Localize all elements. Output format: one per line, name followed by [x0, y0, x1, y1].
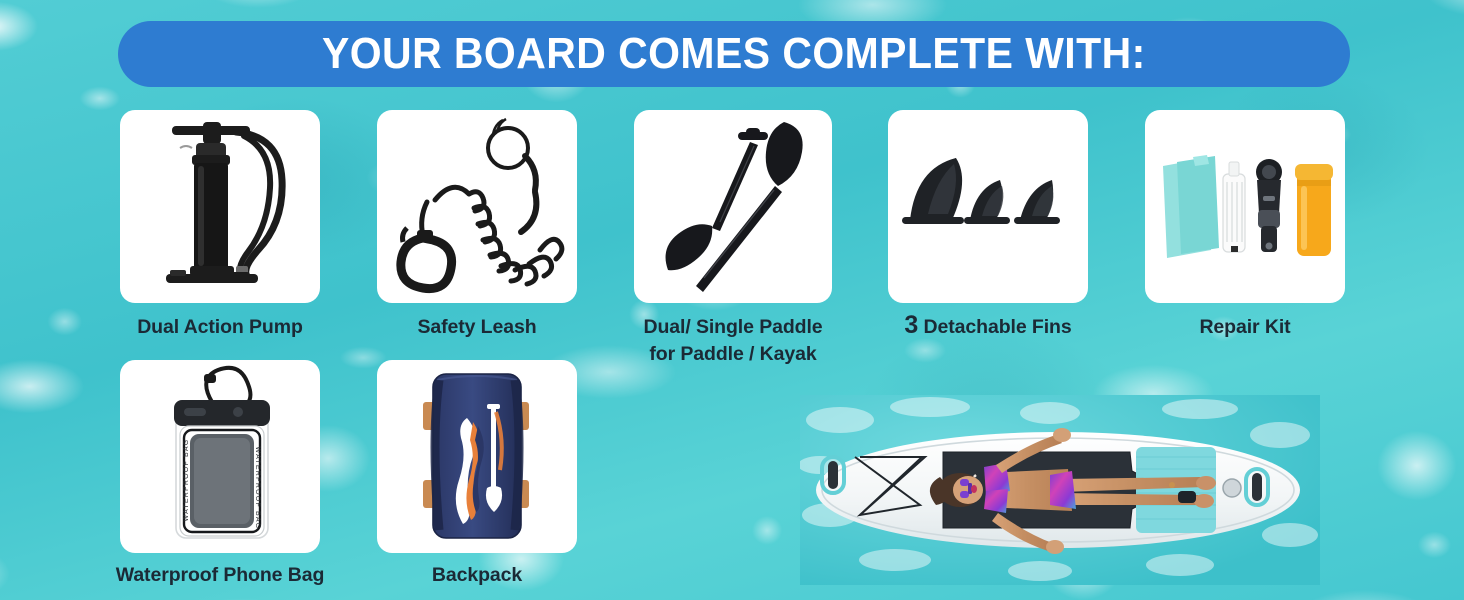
- backpack-icon: [377, 360, 577, 553]
- paddle-icon: [634, 110, 832, 303]
- card-label-dual-action-pump: Dual Action Pump: [120, 314, 320, 341]
- product-card-detachable-fins[interactable]: [888, 110, 1088, 303]
- phone-bag-icon: WATERPROOF BAG WATERPROOF BAG: [120, 360, 320, 553]
- card-label-waterproof-phone-bag: Waterproof Phone Bag: [110, 562, 330, 589]
- fins-count: 3: [904, 311, 918, 339]
- header-banner: YOUR BOARD COMES COMPLETE WITH:: [118, 21, 1350, 87]
- product-card-dual-action-pump[interactable]: [120, 110, 320, 303]
- hand-pump-icon: [120, 110, 320, 303]
- coiled-leash-icon: [377, 110, 577, 303]
- card-label-detachable-fins: 3 Detachable Fins: [888, 312, 1088, 341]
- card-label-paddle-line2: for Paddle / Kayak: [620, 341, 846, 368]
- page-title: YOUR BOARD COMES COMPLETE WITH:: [322, 32, 1146, 76]
- infographic-root: YOUR BOARD COMES COMPLETE WITH:: [0, 0, 1464, 600]
- product-card-dual-single-paddle[interactable]: [634, 110, 832, 303]
- card-label-safety-leash: Safety Leash: [377, 314, 577, 341]
- paddleboard-hero-photo: [800, 395, 1320, 585]
- svg-text:WATERPROOF BAG: WATERPROOF BAG: [254, 447, 261, 530]
- product-card-waterproof-phone-bag[interactable]: WATERPROOF BAG WATERPROOF BAG: [120, 360, 320, 553]
- fins-icon: [888, 110, 1088, 303]
- card-label-repair-kit: Repair Kit: [1145, 314, 1345, 341]
- product-card-backpack[interactable]: [377, 360, 577, 553]
- svg-text:WATERPROOF BAG: WATERPROOF BAG: [183, 439, 190, 522]
- fins-label-text: Detachable Fins: [924, 316, 1072, 338]
- product-card-repair-kit[interactable]: [1145, 110, 1345, 303]
- card-label-paddle-line1: Dual/ Single Paddle: [620, 314, 846, 341]
- repair-kit-icon: [1145, 110, 1345, 303]
- product-card-safety-leash[interactable]: [377, 110, 577, 303]
- card-label-backpack: Backpack: [377, 562, 577, 589]
